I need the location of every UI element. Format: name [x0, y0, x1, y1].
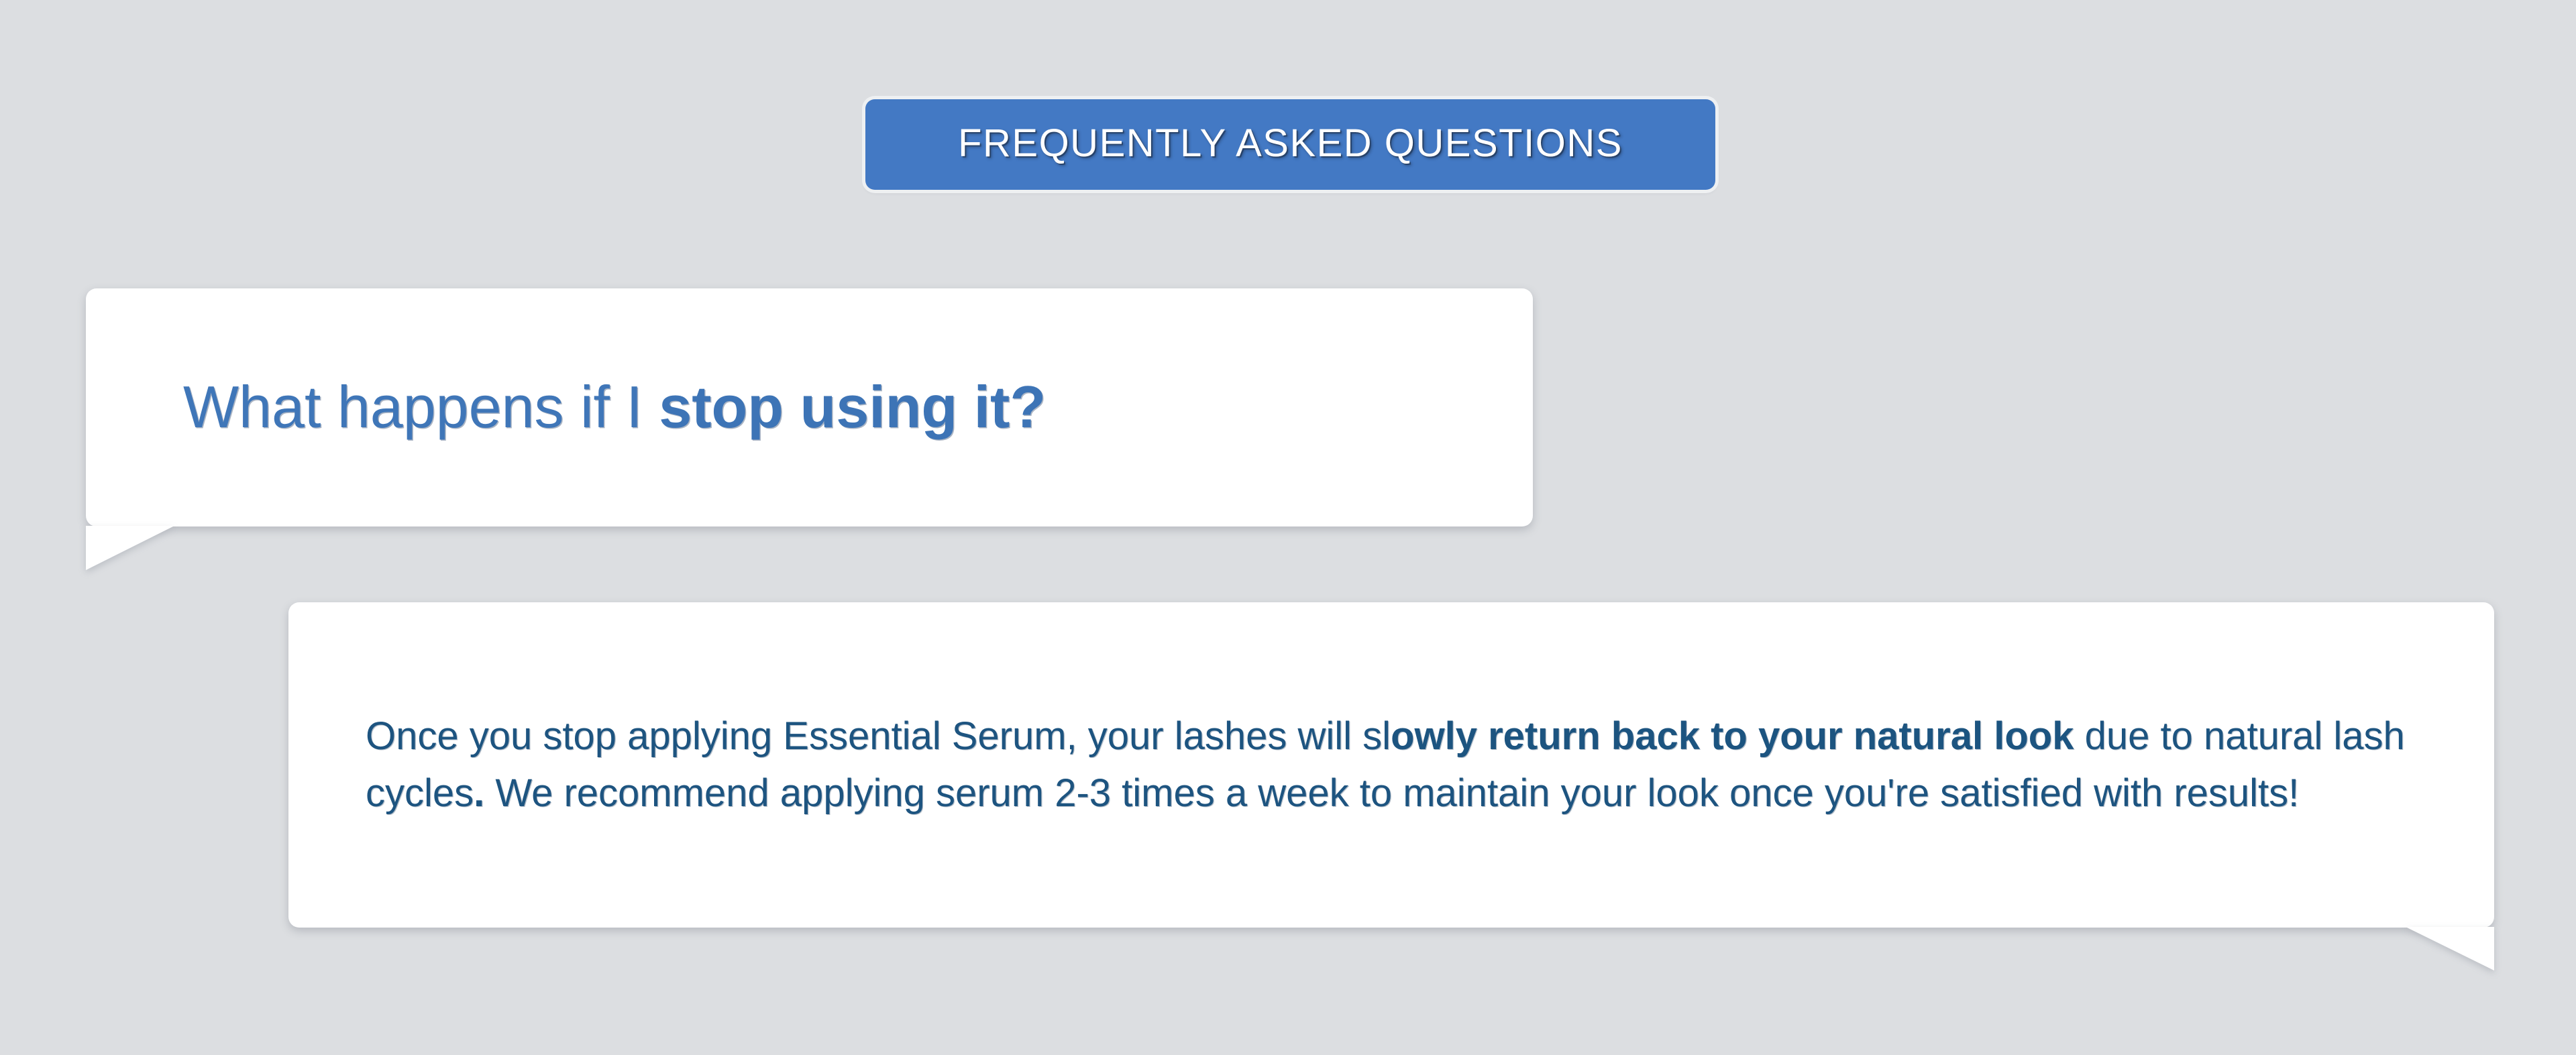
answer-text-part-2-bold: owly return back to your natural look	[1391, 714, 2074, 758]
answer-text-part-5: We recommend applying serum 2-3 times a …	[484, 771, 2299, 815]
question-text: What happens if I stop using it?	[183, 376, 1046, 438]
answer-text-part-1: Once you stop applying Essential Serum, …	[366, 714, 1391, 758]
question-text-regular: What happens if I	[183, 374, 659, 440]
answer-bubble: Once you stop applying Essential Serum, …	[288, 602, 2494, 928]
question-text-bold: stop using it?	[659, 374, 1046, 440]
answer-text-part-4-bold: .	[474, 771, 484, 815]
question-bubble-tail	[86, 526, 174, 570]
faq-section-badge-label: FREQUENTLY ASKED QUESTIONS	[958, 124, 1623, 163]
answer-text: Once you stop applying Essential Serum, …	[366, 708, 2420, 821]
answer-bubble-tail	[2406, 927, 2494, 970]
faq-panel: FREQUENTLY ASKED QUESTIONS What happens …	[0, 0, 2576, 1055]
question-bubble: What happens if I stop using it?	[86, 288, 1533, 526]
faq-section-badge: FREQUENTLY ASKED QUESTIONS	[865, 99, 1715, 190]
